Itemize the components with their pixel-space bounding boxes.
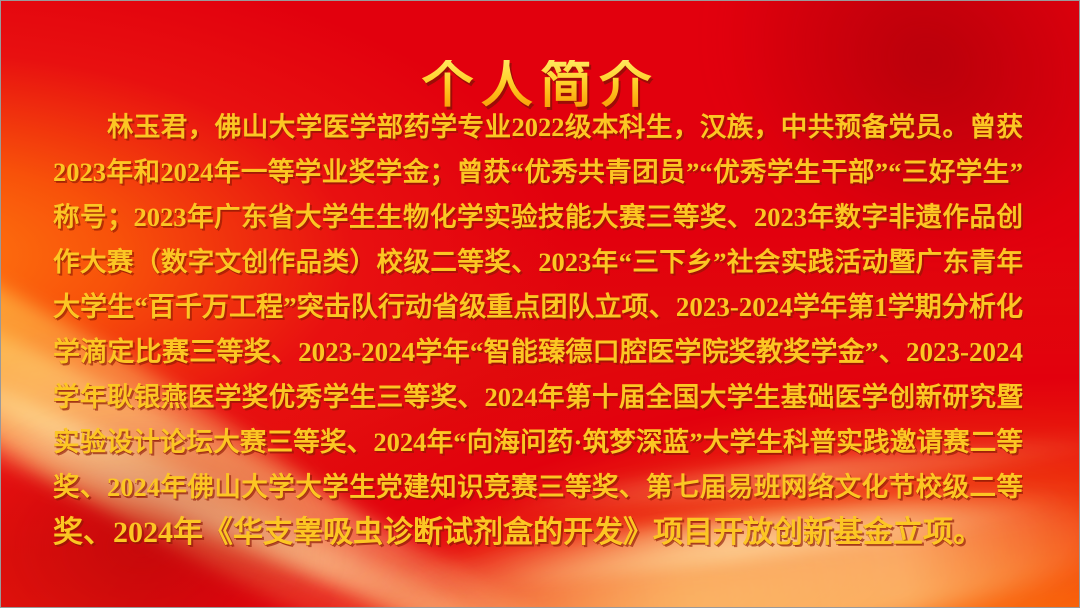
- text-line: 学滴定比赛三等奖、2023-2024学年“智能臻德口腔医学院奖教奖学金”、202…: [53, 330, 1023, 375]
- slide-content: 个人简介 林玉君，佛山大学医学部药学专业2022级本科生，汉族，中共预备党员。曾…: [1, 1, 1079, 607]
- text-line: 奖、2024年《华支睾吸虫诊断试剂盒的开发》项目开放创新基金立项。: [53, 510, 1023, 555]
- text-line: 实验设计论坛大赛三等奖、2024年“向海问药·筑梦深蓝”大学生科普实践邀请赛二等: [53, 420, 1023, 465]
- text-line: 学年耿银燕医学奖优秀学生三等奖、2024年第十届全国大学生基础医学创新研究暨: [53, 375, 1023, 420]
- biography-text-block: 林玉君，佛山大学医学部药学专业2022级本科生，汉族，中共预备党员。曾获 202…: [53, 105, 1023, 555]
- text-line: 称号；2023年广东省大学生生物化学实验技能大赛三等奖、2023年数字非遗作品创: [53, 195, 1023, 240]
- text-line: 奖、2024年佛山大学大学生党建知识竞赛三等奖、第七届易班网络文化节校级二等: [53, 465, 1023, 510]
- text-line: 林玉君，佛山大学医学部药学专业2022级本科生，汉族，中共预备党员。曾获: [53, 105, 1023, 150]
- text-line: 2023年和2024年一等学业奖学金；曾获“优秀共青团员”“优秀学生干部”“三好…: [53, 150, 1023, 195]
- text-line: 大学生“百千万工程”突击队行动省级重点团队立项、2023-2024学年第1学期分…: [53, 285, 1023, 330]
- text-line: 作大赛（数字文创作品类）校级二等奖、2023年“三下乡”社会实践活动暨广东青年: [53, 240, 1023, 285]
- slide-canvas: 个人简介 林玉君，佛山大学医学部药学专业2022级本科生，汉族，中共预备党员。曾…: [0, 0, 1080, 608]
